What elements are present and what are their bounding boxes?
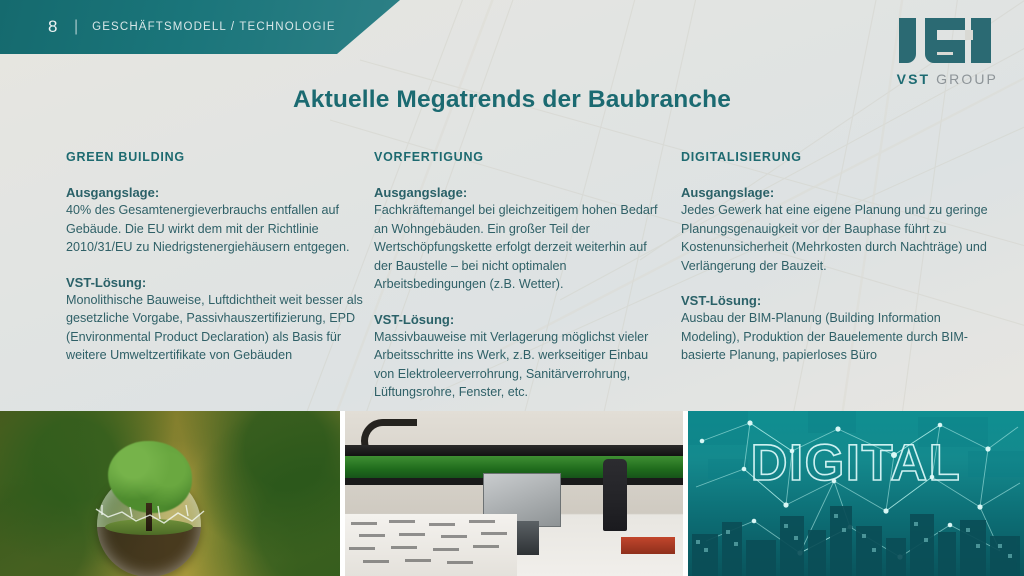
vst-group-logo: VST GROUP: [897, 16, 998, 87]
red-crate: [621, 537, 675, 554]
column-block: VST-Lösung: Ausbau der BIM-Planung (Buil…: [681, 293, 991, 365]
block-label: VST-Lösung:: [374, 312, 664, 327]
tree-in-glass-globe-photo: [0, 411, 340, 576]
column-vorfertigung: VORFERTIGUNG Ausgangslage: Fachkräfteman…: [374, 150, 664, 420]
block-label: Ausgangslage:: [374, 185, 664, 200]
column-block: VST-Lösung: Monolithische Bauweise, Luft…: [66, 275, 371, 365]
column-block: Ausgangslage: Fachkräftemangel bei gleic…: [374, 185, 664, 294]
block-text: Massivbauweise mit Verlagerung möglichst…: [374, 328, 664, 402]
gantry-rail-upper: [345, 445, 683, 456]
block-text: Monolithische Bauweise, Luftdichtheit we…: [66, 291, 371, 365]
header-divider: |: [74, 18, 78, 36]
page-title: Aktuelle Megatrends der Baubranche: [0, 86, 1024, 114]
block-label: Ausgangslage:: [681, 185, 991, 200]
vst-monogram-icon: [897, 16, 993, 66]
header-banner: 8 | GESCHÄFTSMODELL / TECHNOLOGIE: [0, 0, 400, 54]
content-columns: GREEN BUILDING Ausgangslage: 40% des Ges…: [0, 150, 1024, 420]
column-heading: GREEN BUILDING: [66, 150, 371, 164]
factory-worker: [603, 459, 627, 531]
logo-word-vst: VST: [897, 71, 931, 87]
block-text: Ausbau der BIM-Planung (Building Informa…: [681, 309, 991, 365]
column-green-building: GREEN BUILDING Ausgangslage: 40% des Ges…: [66, 150, 371, 420]
column-block: Ausgangslage: Jedes Gewerk hat eine eige…: [681, 185, 991, 275]
glass-shards: [92, 503, 208, 533]
city-skyline-silhouette: [688, 500, 1024, 576]
logo-word-group: GROUP: [936, 71, 998, 87]
column-block: Ausgangslage: 40% des Gesamtenergieverbr…: [66, 185, 371, 257]
header-section-label: GESCHÄFTSMODELL / TECHNOLOGIE: [92, 21, 336, 33]
digital-city-network-photo: DIGITAL: [688, 411, 1024, 576]
factory-cnc-gantry-photo: [345, 411, 683, 576]
logo-wordmark: VST GROUP: [897, 71, 998, 87]
presentation-slide: 8 | GESCHÄFTSMODELL / TECHNOLOGIE VST GR…: [0, 0, 1024, 576]
page-number: 8: [48, 17, 58, 37]
block-label: VST-Lösung:: [66, 275, 371, 290]
digital-wordmark: DIGITAL: [688, 433, 1024, 492]
panel-marking-dots: [345, 514, 517, 576]
block-text: Jedes Gewerk hat eine eigene Planung und…: [681, 201, 991, 275]
block-text: 40% des Gesamtenergieverbrauchs entfalle…: [66, 201, 371, 257]
column-heading: VORFERTIGUNG: [374, 150, 664, 164]
column-digitalisierung: DIGITALISIERUNG Ausgangslage: Jedes Gewe…: [681, 150, 991, 420]
block-text: Fachkräftemangel bei gleichzeitigem hohe…: [374, 201, 664, 294]
column-block: VST-Lösung: Massivbauweise mit Verlageru…: [374, 312, 664, 402]
block-label: VST-Lösung:: [681, 293, 991, 308]
block-label: Ausgangslage:: [66, 185, 371, 200]
column-heading: DIGITALISIERUNG: [681, 150, 991, 164]
photo-strip: DIGITAL: [0, 411, 1024, 576]
